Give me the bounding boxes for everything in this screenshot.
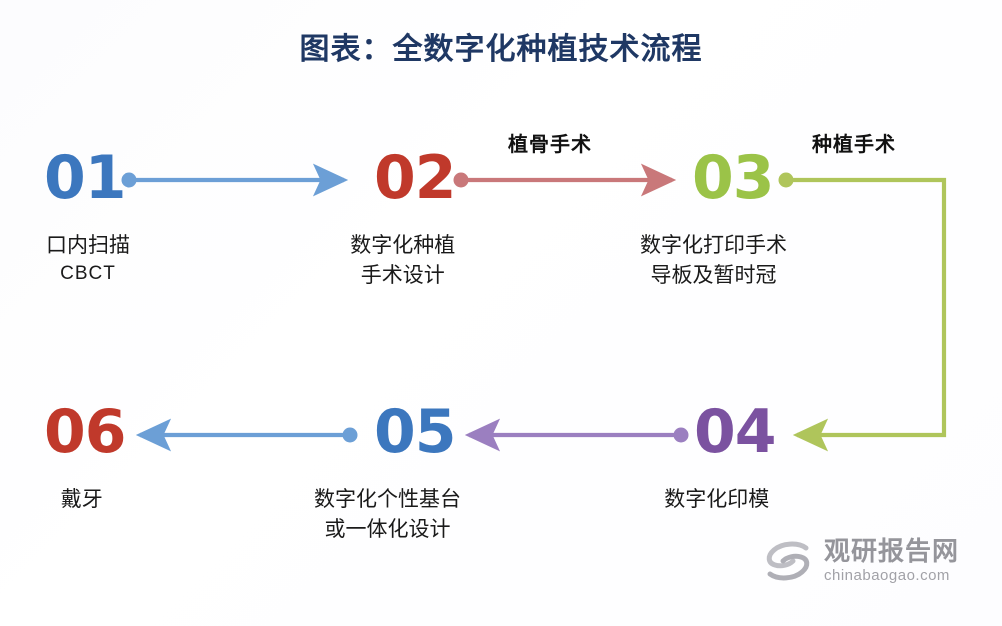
step-number-03: 03 (692, 148, 787, 208)
page-title: 图表：全数字化种植技术流程 (0, 24, 1002, 68)
step-caption-02-line-1: 数字化种植 (350, 230, 456, 260)
watermark: 观研报告网 chinabaogao.com (762, 538, 959, 584)
step-number-04: 04 (694, 402, 776, 462)
watermark-logo-icon (762, 539, 814, 583)
watermark-cn: 观研报告网 (824, 538, 959, 565)
connector-01-to-02 (122, 173, 345, 188)
step-number-05: 05 (374, 402, 461, 462)
connector-03-to-04 (779, 173, 945, 436)
flow-step-05[interactable]: 05 数字化个性基台 或一体化设计 (374, 402, 461, 545)
step-caption-04: 数字化印模 (658, 484, 776, 514)
flow-step-02[interactable]: 02 数字化种植 手术设计 (374, 148, 456, 291)
edge-label-implant-surgery: 种植手术 (812, 128, 896, 157)
step-caption-05: 数字化个性基台 或一体化设计 (314, 484, 461, 545)
connector-05-to-06 (140, 428, 358, 443)
step-caption-05-line-2: 或一体化设计 (314, 514, 461, 544)
step-caption-01: 口内扫描 CBCT (46, 230, 130, 288)
connector-04-to-05 (469, 428, 689, 443)
step-number-01: 01 (44, 148, 130, 208)
step-number-02: 02 (374, 148, 456, 208)
flow-step-04[interactable]: 04 数字化印模 (694, 402, 776, 514)
step-caption-01-line-1: 口内扫描 (46, 230, 130, 260)
step-caption-02: 数字化种植 手术设计 (350, 230, 456, 291)
connector-02-to-03 (454, 173, 673, 188)
flow-step-03[interactable]: 03 数字化打印手术 导板及暂时冠 (692, 148, 787, 291)
edge-label-bone-graft: 植骨手术 (508, 128, 592, 157)
connector-layer (0, 0, 1002, 626)
step-caption-01-line-2: CBCT (46, 260, 130, 288)
watermark-text: 观研报告网 chinabaogao.com (824, 538, 959, 584)
step-caption-03-line-2: 导板及暂时冠 (640, 260, 787, 290)
step-caption-04-line-1: 数字化印模 (658, 484, 776, 514)
step-caption-06-line-1: 戴牙 (38, 484, 126, 514)
step-number-06: 06 (44, 402, 126, 462)
step-caption-02-line-2: 手术设计 (350, 260, 456, 290)
flowchart-canvas: 图表：全数字化种植技术流程 (0, 0, 1002, 626)
flow-step-01[interactable]: 01 口内扫描 CBCT (44, 148, 130, 288)
step-caption-03: 数字化打印手术 导板及暂时冠 (640, 230, 787, 291)
step-caption-06: 戴牙 (38, 484, 126, 514)
flow-step-06[interactable]: 06 戴牙 (44, 402, 126, 514)
step-caption-05-line-1: 数字化个性基台 (314, 484, 461, 514)
step-caption-03-line-1: 数字化打印手术 (640, 230, 787, 260)
watermark-en: chinabaogao.com (824, 568, 959, 584)
